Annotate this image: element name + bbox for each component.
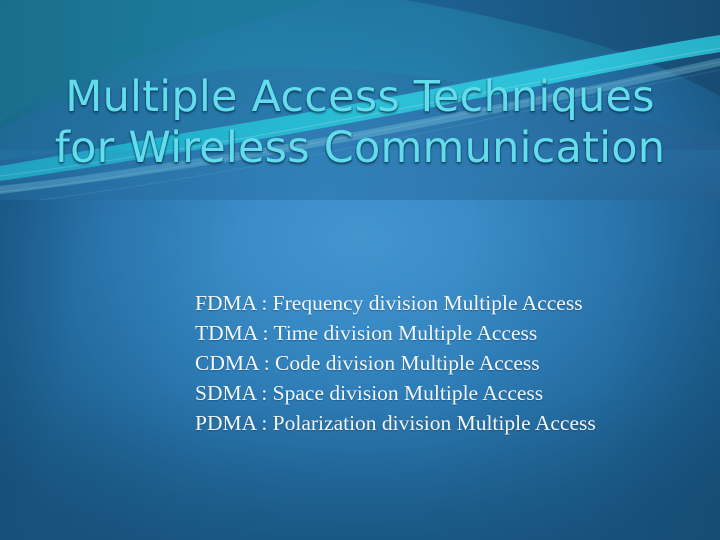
slide-canvas: Multiple Access Techniques for Wireless …	[0, 0, 720, 540]
slide-body-list: FDMA : Frequency division Multiple Acces…	[195, 288, 695, 438]
body-line-sdma: SDMA : Space division Multiple Access	[195, 378, 695, 408]
slide-title-line-1: Multiple Access Techniques	[40, 72, 680, 123]
body-line-tdma: TDMA : Time division Multiple Access	[195, 318, 695, 348]
body-line-pdma: PDMA : Polarization division Multiple Ac…	[195, 408, 695, 438]
slide-title: Multiple Access Techniques for Wireless …	[40, 72, 680, 174]
slide-title-line-2: for Wireless Communication	[40, 123, 680, 174]
body-line-fdma: FDMA : Frequency division Multiple Acces…	[195, 288, 695, 318]
body-line-cdma: CDMA : Code division Multiple Access	[195, 348, 695, 378]
